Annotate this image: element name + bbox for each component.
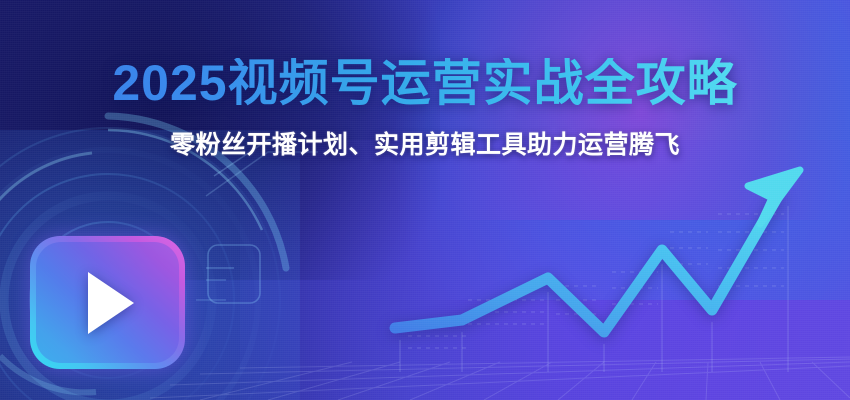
play-icon	[88, 272, 134, 334]
promo-banner: 2025视频号运营实战全攻略 零粉丝开播计划、实用剪辑工具助力运营腾飞	[0, 0, 850, 400]
play-button[interactable]	[30, 236, 185, 369]
